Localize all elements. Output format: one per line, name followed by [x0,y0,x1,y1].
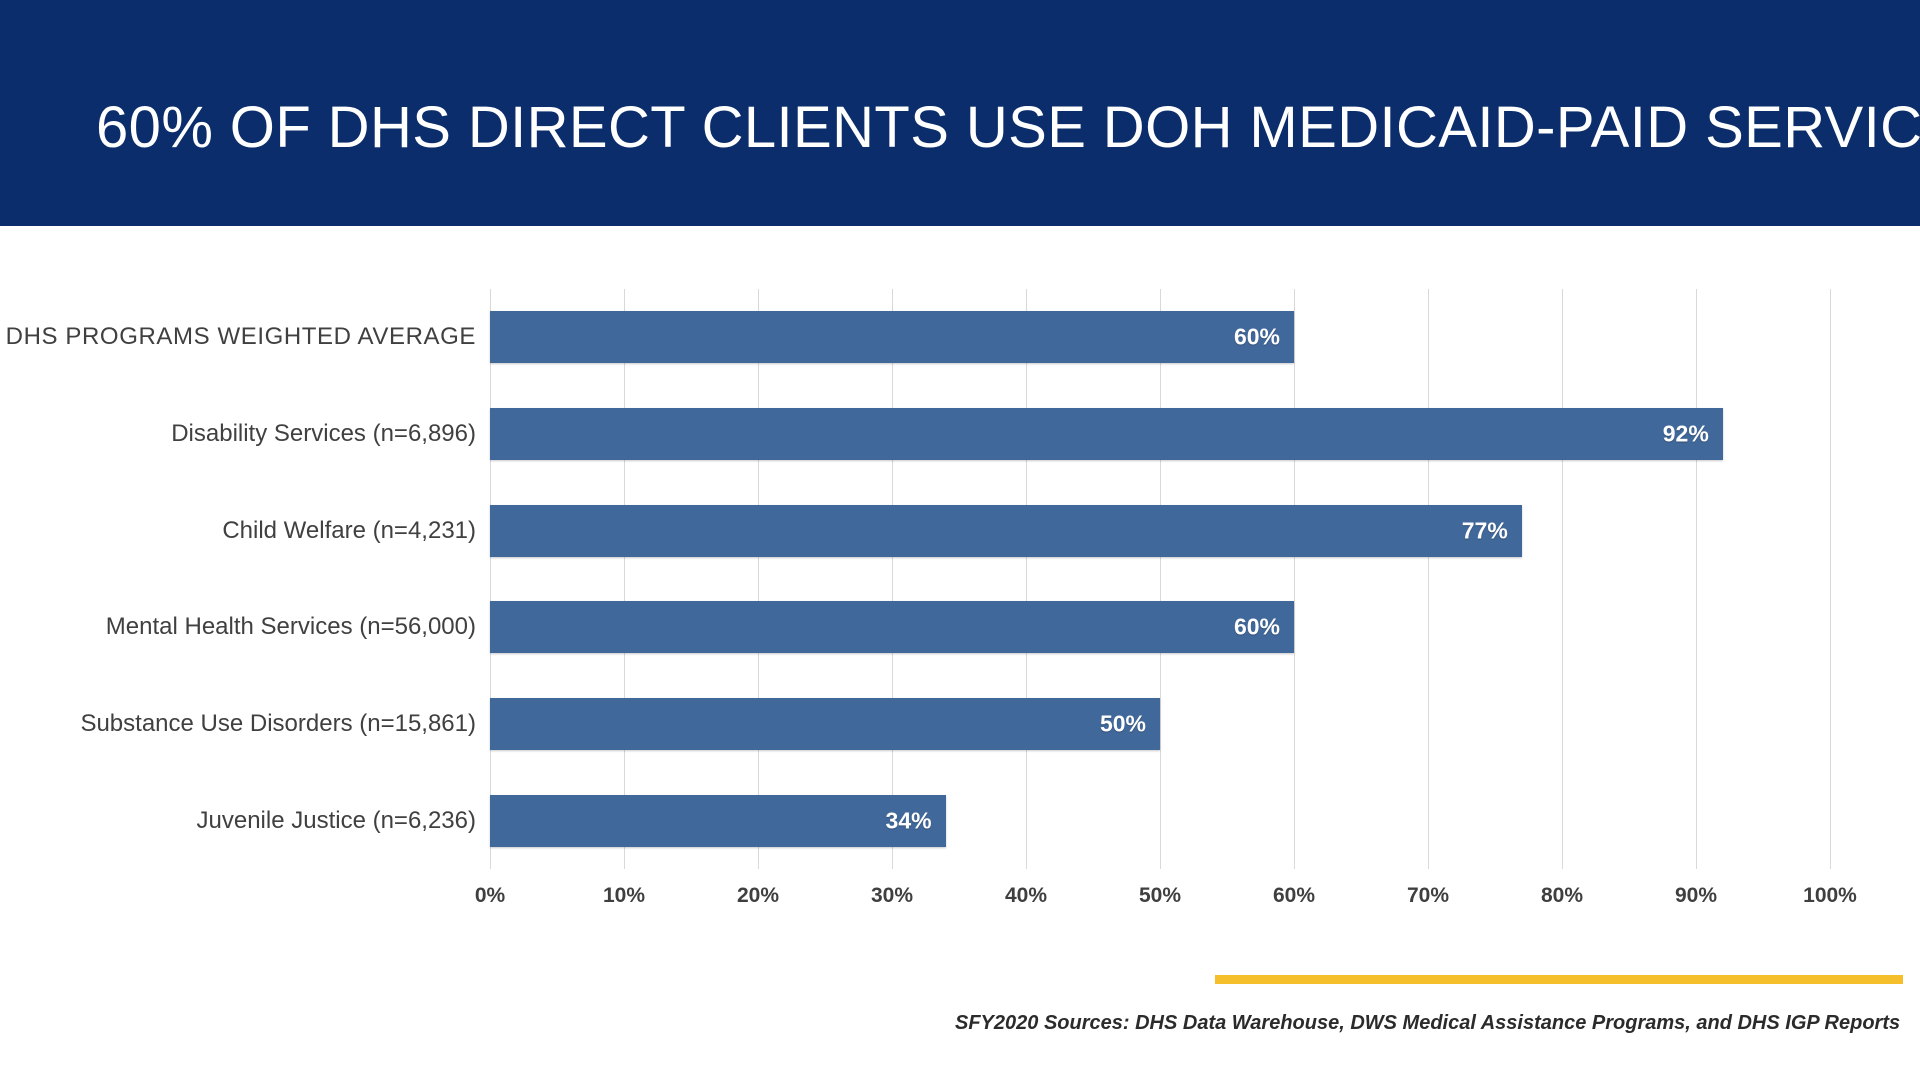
x-tick-label: 60% [1273,884,1315,908]
chart-row: Child Welfare (n=4,231)77% [490,482,1830,579]
bar-value-label: 60% [1234,324,1280,351]
bar[interactable]: 60% [490,311,1294,363]
bar-value-label: 50% [1100,710,1146,737]
accent-bar [1215,975,1903,984]
bar-value-label: 92% [1663,420,1709,447]
category-label: Disability Services (n=6,896) [171,420,476,448]
x-tick-label: 0% [475,884,505,908]
category-label: Juvenile Justice (n=6,236) [197,807,477,835]
category-label: DHS PROGRAMS WEIGHTED AVERAGE [6,323,476,351]
chart-row: DHS PROGRAMS WEIGHTED AVERAGE60% [490,289,1830,386]
bar[interactable]: 34% [490,795,946,847]
bar-chart: DHS PROGRAMS WEIGHTED AVERAGE60%Disabili… [0,226,1920,1068]
header-band: 60% OF DHS DIRECT CLIENTS USE DOH MEDICA… [0,0,1920,226]
chart-row: Substance Use Disorders (n=15,861)50% [490,676,1830,773]
x-tick-label: 50% [1139,884,1181,908]
x-tick-label: 20% [737,884,779,908]
chart-row: Disability Services (n=6,896)92% [490,386,1830,483]
x-tick-label: 100% [1803,884,1857,908]
category-label: Substance Use Disorders (n=15,861) [80,710,476,738]
category-label: Child Welfare (n=4,231) [222,517,476,545]
bar[interactable]: 92% [490,408,1723,460]
x-tick-label: 80% [1541,884,1583,908]
chart-row: Mental Health Services (n=56,000)60% [490,579,1830,676]
source-note: SFY2020 Sources: DHS Data Warehouse, DWS… [955,1012,1855,1035]
x-tick-label: 10% [603,884,645,908]
x-tick-label: 30% [871,884,913,908]
page-title: 60% OF DHS DIRECT CLIENTS USE DOH MEDICA… [96,98,1856,159]
chart-row: Juvenile Justice (n=6,236)34% [490,772,1830,869]
bar-value-label: 34% [886,807,932,834]
bar-value-label: 77% [1462,517,1508,544]
plot-area: DHS PROGRAMS WEIGHTED AVERAGE60%Disabili… [490,289,1830,869]
bar-value-label: 60% [1234,614,1280,641]
x-tick-label: 90% [1675,884,1717,908]
gridline [1830,289,1831,869]
slide: 60% OF DHS DIRECT CLIENTS USE DOH MEDICA… [0,0,1920,1068]
x-axis: 0%10%20%30%40%50%60%70%80%90%100% [490,884,1830,924]
x-tick-label: 70% [1407,884,1449,908]
x-tick-label: 40% [1005,884,1047,908]
category-label: Mental Health Services (n=56,000) [106,613,476,641]
bar[interactable]: 50% [490,698,1160,750]
bar[interactable]: 77% [490,505,1522,557]
bar[interactable]: 60% [490,601,1294,653]
